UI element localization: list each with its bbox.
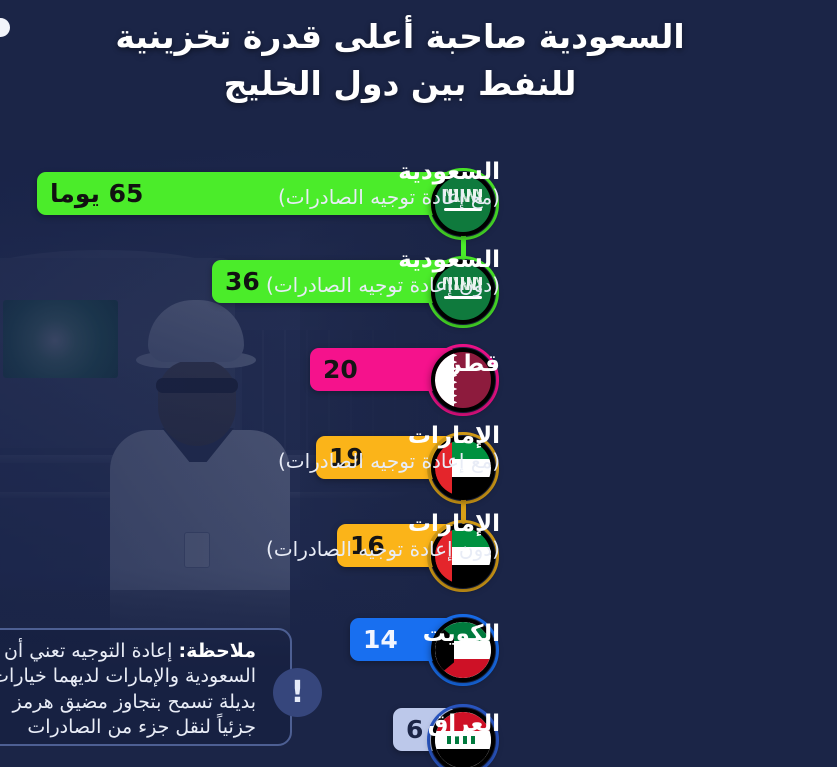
country-label-saudi-direct: السعودية — [266, 248, 500, 274]
uae-black-band — [452, 477, 491, 496]
page-title: السعودية صاحبة أعلى قدرة تخزينية للنفط ب… — [110, 14, 690, 108]
bar-value-qatar: 20 — [310, 355, 371, 384]
country-sublabel-saudi-redirected: (مع إعادة توجيه الصادرات) — [278, 186, 500, 210]
bar-value-saudi-direct: 36 — [212, 267, 273, 296]
iraq-black-band — [435, 749, 491, 767]
country-label-iraq: العراق — [428, 712, 500, 738]
label-group-iraq: العراق — [428, 712, 500, 738]
label-group-saudi-redirected: السعودية (مع إعادة توجيه الصادرات) — [278, 160, 500, 209]
label-group-qatar: قطر — [448, 352, 500, 378]
note-label: ملاحظة: — [178, 640, 256, 662]
country-label-saudi-redirected: السعودية — [278, 160, 500, 186]
infographic-canvas: السعودية صاحبة أعلى قدرة تخزينية للنفط ب… — [0, 0, 837, 767]
country-sublabel-uae-redirected: (مع إعادة توجيه الصادرات) — [278, 450, 500, 474]
country-sublabel-uae-direct: (دون إعادة توجيه الصادرات) — [266, 538, 500, 562]
label-group-saudi-direct: السعودية (دون إعادة توجيه الصادرات) — [266, 248, 500, 297]
label-group-uae-direct: الإمارات (دون إعادة توجيه الصادرات) — [266, 512, 500, 561]
label-group-uae-redirected: الإمارات (مع إعادة توجيه الصادرات) — [278, 424, 500, 473]
note-text: ملاحظة: إعادة التوجيه تعني أن السعودية و… — [0, 630, 274, 740]
country-sublabel-saudi-direct: (دون إعادة توجيه الصادرات) — [266, 274, 500, 298]
country-label-uae-redirected: الإمارات — [278, 424, 500, 450]
country-label-kuwait: الكويت — [423, 622, 500, 648]
country-label-uae-direct: الإمارات — [266, 512, 500, 538]
country-label-qatar: قطر — [448, 352, 500, 378]
bar-value-kuwait: 14 — [350, 625, 411, 654]
bar-value-saudi-redirected: 65 يوما — [37, 179, 156, 208]
label-group-kuwait: الكويت — [423, 622, 500, 648]
warning-icon: ! — [273, 668, 322, 717]
uae-black-band — [452, 565, 491, 584]
